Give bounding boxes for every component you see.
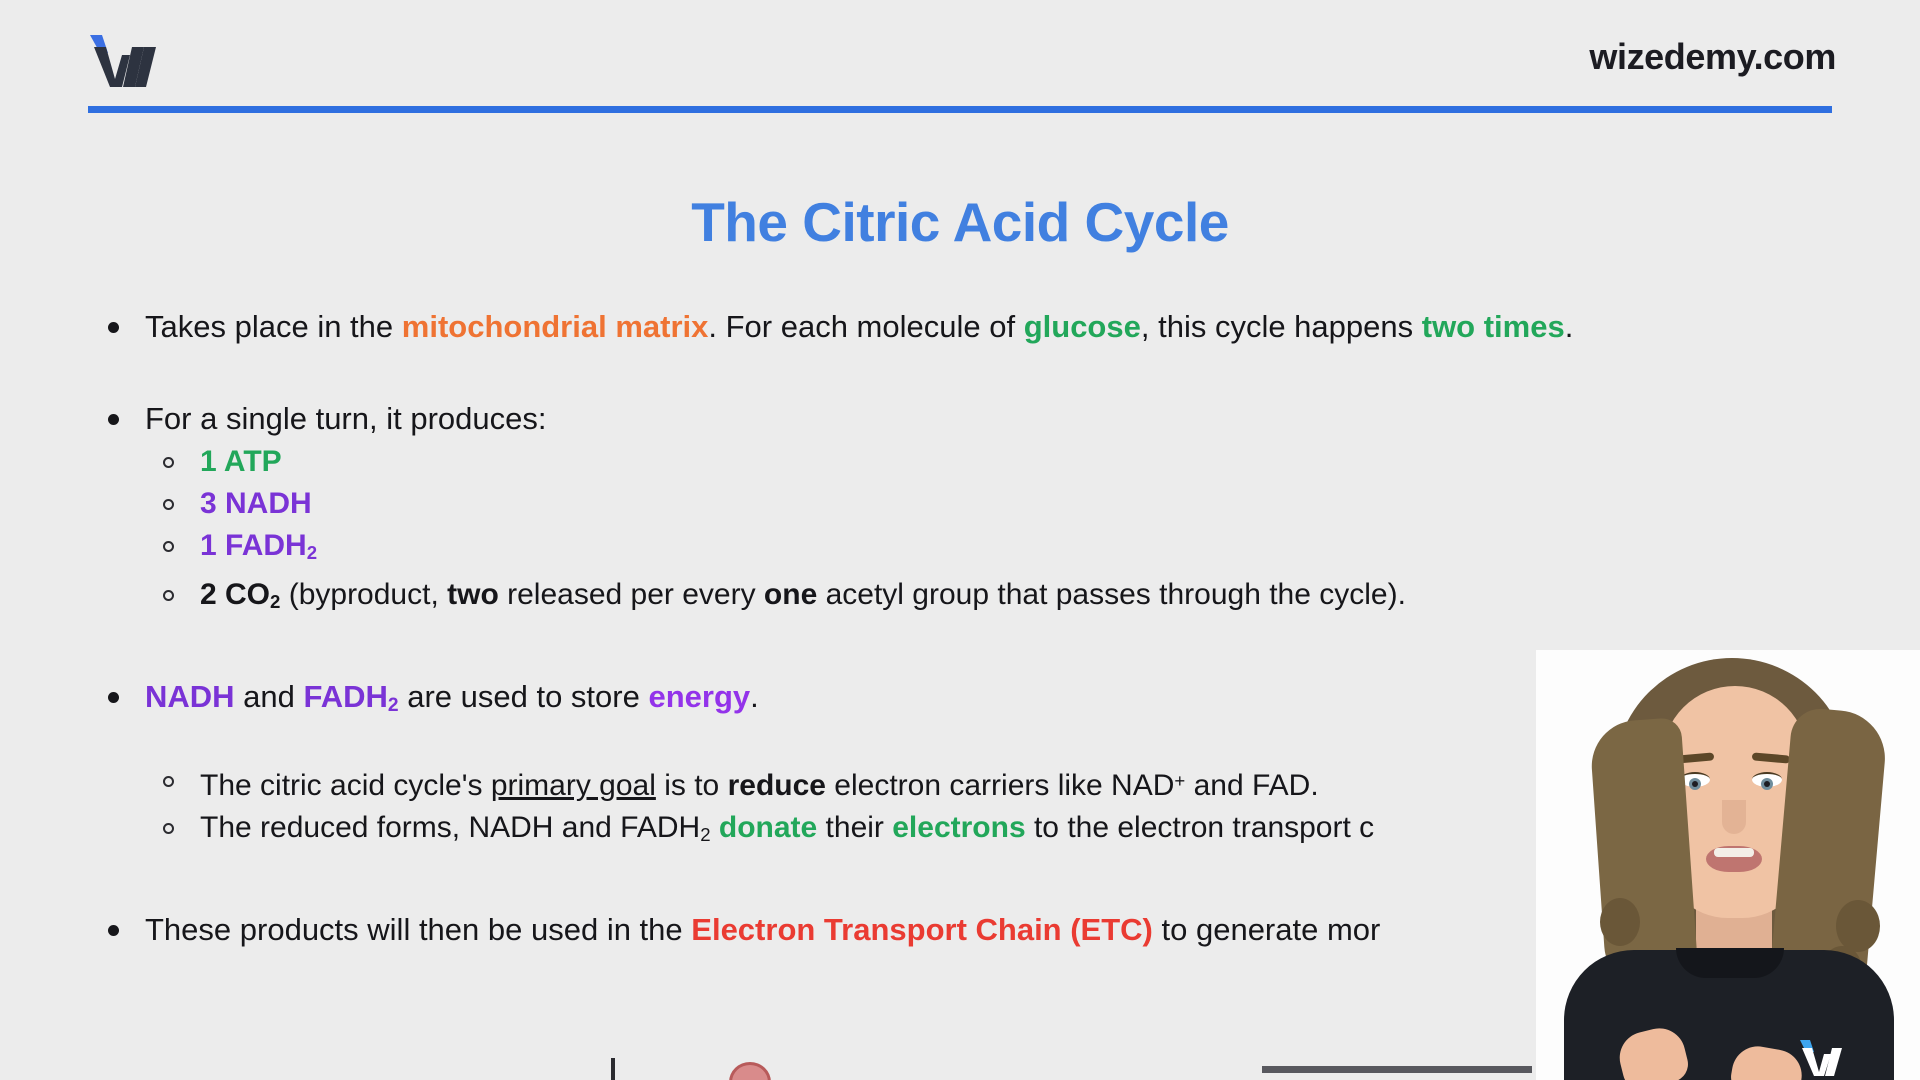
text-segment: their (817, 811, 892, 844)
text-segment: (byproduct, (280, 578, 447, 611)
text-segment: , this cycle happens (1141, 309, 1422, 344)
highlight-etc: Electron Transport Chain (ETC) (691, 912, 1153, 947)
bullet-ring-icon (163, 499, 174, 510)
value-3-nadh: 3 NADH (200, 487, 312, 520)
text-segment: is to (656, 769, 728, 802)
bullet-mitochondrial-matrix: Takes place in the mitochondrial matrix.… (100, 305, 1860, 349)
instructor-portrait (1536, 650, 1920, 1080)
text-segment: . (1565, 309, 1574, 344)
shirt-collar (1676, 948, 1784, 978)
text-segment: and (235, 679, 304, 714)
hair-curl (1600, 898, 1640, 946)
text-segment: are used to store (399, 679, 649, 714)
subscript: 2 (307, 542, 317, 563)
bullet-ring-icon (163, 457, 174, 468)
highlight-electrons: electrons (892, 811, 1025, 844)
superscript-plus: + (1174, 770, 1185, 791)
underline-primary-goal: primary goal (491, 769, 656, 802)
subscript: 2 (388, 695, 399, 716)
instructor-video-overlay[interactable] (1536, 650, 1920, 1080)
spacer (100, 349, 1860, 397)
site-url: wizedemy.com (1589, 36, 1836, 78)
value-1-fadh2: 1 FADH2 (200, 529, 317, 562)
highlight-fadh2: FADH2 (304, 679, 399, 714)
iris-left (1689, 778, 1701, 790)
text-segment: The citric acid cycle's (200, 769, 491, 802)
value-1-atp: 1 ATP (200, 445, 282, 478)
bullet-ring-icon (163, 823, 174, 834)
highlight-donate: donate (719, 811, 817, 844)
bullet-ring-icon (163, 776, 174, 787)
highlight-mitochondrial-matrix: mitochondrial matrix (402, 309, 709, 344)
slide-header: wizedemy.com (0, 0, 1920, 120)
text-segment: to the electron transport c (1026, 811, 1375, 844)
bullet-ring-icon (163, 541, 174, 552)
bullet-dot-icon (108, 414, 119, 425)
text-segment: to generate mor (1153, 912, 1380, 947)
sub-bullet-nadh: 3 NADH (100, 483, 1860, 525)
text-segment: For a single turn, it produces: (145, 401, 546, 436)
text-segment: 2 CO (200, 578, 270, 611)
page-title: The Citric Acid Cycle (0, 190, 1920, 254)
highlight-nadh: NADH (145, 679, 235, 714)
text-segment: released per every (499, 578, 764, 611)
partial-diagram-blob (729, 1062, 771, 1080)
sub-bullet-fadh2: 1 FADH2 (100, 525, 1860, 574)
mouth (1706, 846, 1762, 872)
text-segment: These products will then be used in the (145, 912, 691, 947)
text-segment: . For each molecule of (708, 309, 1023, 344)
wizedemy-w-logo (88, 33, 166, 89)
highlight-two-times: two times (1422, 309, 1565, 344)
subscript: 2 (700, 824, 710, 845)
text-segment: The reduced forms, NADH and FADH (200, 811, 700, 844)
text-segment: . (750, 679, 759, 714)
pupil-left (1692, 781, 1698, 787)
highlight-energy: energy (648, 679, 750, 714)
shirt-logo-icon (1798, 1038, 1852, 1078)
text-segment: FADH (304, 679, 388, 714)
emphasis-one: one (764, 578, 817, 611)
value-2-co2: 2 CO2 (200, 578, 280, 611)
highlight-glucose: glucose (1024, 309, 1141, 344)
text-segment: acetyl group that passes through the cyc… (817, 578, 1406, 611)
bullet-single-turn-products: For a single turn, it produces: (100, 397, 1860, 441)
header-divider (88, 106, 1832, 113)
text-segment: electron carriers like NAD (826, 769, 1174, 802)
teeth (1714, 848, 1754, 857)
pupil-right (1764, 781, 1770, 787)
text-segment (711, 811, 719, 844)
sub-bullet-co2: 2 CO2 (byproduct, two released per every… (100, 574, 1860, 623)
partial-diagram-bar (1262, 1066, 1532, 1073)
bullet-dot-icon (108, 322, 119, 333)
bullet-ring-icon (163, 590, 174, 601)
emphasis-reduce: reduce (728, 769, 826, 802)
text-segment: and FAD. (1185, 769, 1318, 802)
partial-diagram-tick (611, 1058, 615, 1080)
text-segment: 1 FADH (200, 529, 307, 562)
text-segment: Takes place in the (145, 309, 402, 344)
emphasis-two: two (447, 578, 499, 611)
subscript: 2 (270, 591, 280, 612)
iris-right (1761, 778, 1773, 790)
eye-right (1752, 772, 1782, 787)
bullet-dot-icon (108, 692, 119, 703)
sub-bullet-atp: 1 ATP (100, 441, 1860, 483)
hair-curl (1836, 900, 1880, 952)
bullet-dot-icon (108, 925, 119, 936)
nose (1722, 800, 1746, 834)
